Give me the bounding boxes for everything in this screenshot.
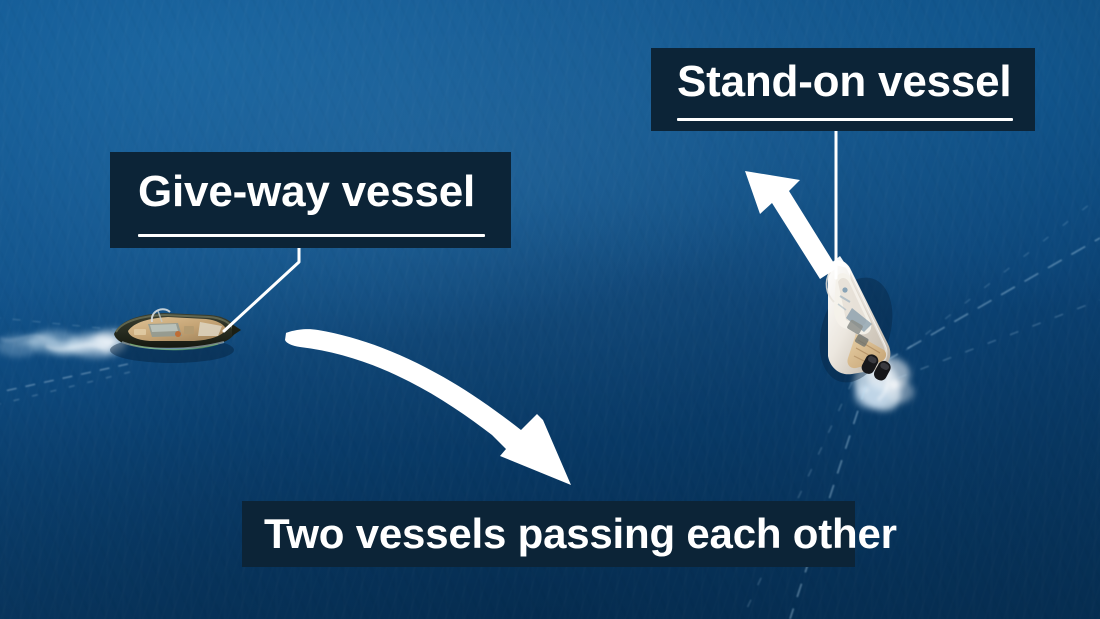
caption-banner: Two vessels passing each other [242, 501, 855, 567]
annotated-boating-illustration: Give-way vessel Stand-on vessel Two vess… [0, 0, 1100, 619]
give-way-vessel-label-text: Give-way vessel [138, 164, 485, 214]
give-way-vessel-label: Give-way vessel [110, 152, 511, 248]
stand-on-vessel-boat [800, 252, 904, 384]
stand-on-label-underline [677, 118, 1013, 121]
stand-on-vessel-label: Stand-on vessel [651, 48, 1035, 131]
stand-on-vessel-label-text: Stand-on vessel [677, 58, 1013, 104]
give-way-vessel-boat [106, 296, 242, 368]
caption-text: Two vessels passing each other [264, 513, 833, 555]
give-way-label-underline [138, 234, 485, 237]
